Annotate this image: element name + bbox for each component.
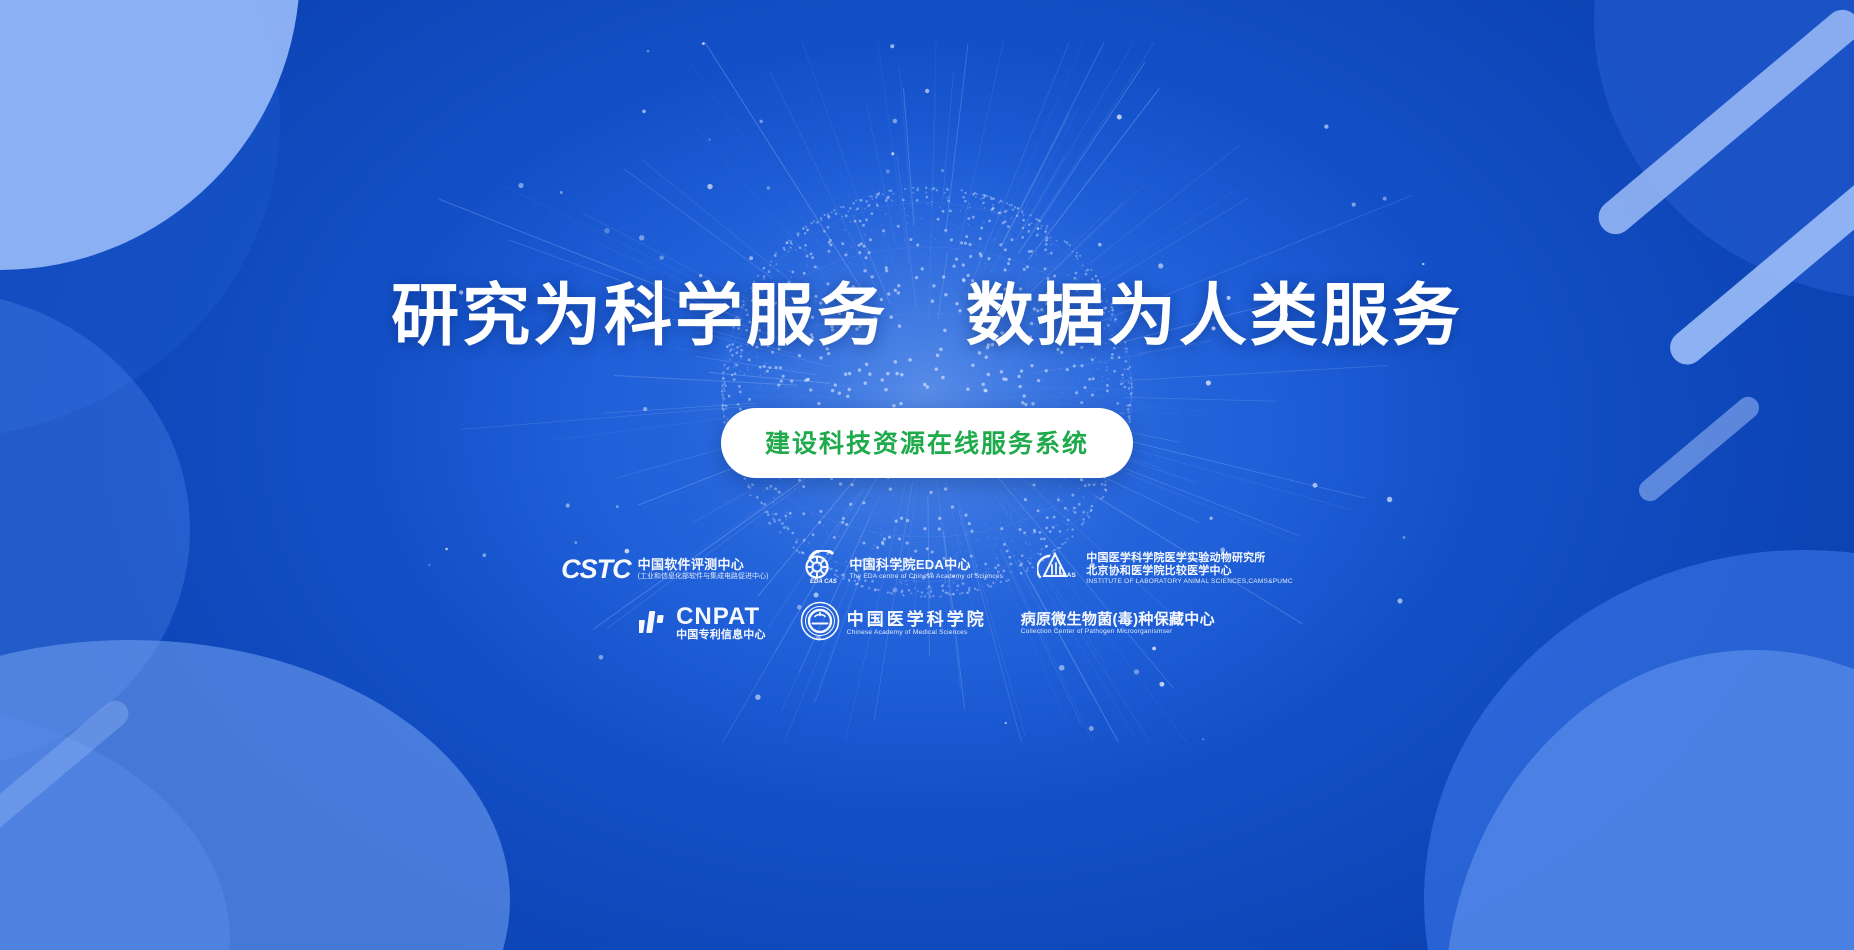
svg-text:ILAS: ILAS [1061, 572, 1076, 579]
headline-left: 研究为科学服务 [391, 278, 888, 354]
cnpat-bars-icon [639, 606, 669, 641]
banner-content: 研究为科学服务 数据为人类服务 建设科技资源在线服务系统 CSTC 中国软件评测… [0, 0, 1854, 950]
partner-logo-ilas[interactable]: ILAS 中国医学科学院医学实验动物研究所 北京协和医学院比较医学中心 INST… [1037, 550, 1293, 589]
svg-text:EDA CAS: EDA CAS [810, 579, 837, 584]
hero-banner: 研究为科学服务 数据为人类服务 建设科技资源在线服务系统 CSTC 中国软件评测… [0, 0, 1854, 950]
headline-right: 数据为人类服务 [966, 278, 1463, 354]
pathogen-center-name-cn: 病原微生物菌(毒)种保藏中心 [1021, 611, 1215, 628]
cstc-name-cn: 中国软件评测中心 [638, 558, 769, 573]
ilas-name-cn-line1: 中国医学科学院医学实验动物研究所 [1086, 552, 1293, 565]
ilas-name-en: INSTITUTE OF LABORATORY ANIMAL SCIENCES,… [1086, 578, 1293, 586]
ilas-emblem-icon: ILAS [1037, 550, 1079, 589]
cams-seal-icon [800, 601, 840, 646]
partner-logo-row-1: CSTC 中国软件评测中心 (工业和信息化部软件与集成电路促进中心) [561, 550, 1293, 589]
cams-name-en: Chinese Academy of Medical Sciences [847, 629, 987, 637]
cstc-name-sub: (工业和信息化部软件与集成电路促进中心) [638, 573, 769, 582]
partner-logo-cnpat[interactable]: CNPAT 中国专利信息中心 [639, 605, 766, 642]
partner-logo-cams[interactable]: 中国医学科学院 Chinese Academy of Medical Scien… [800, 601, 987, 646]
partner-logo-band: CSTC 中国软件评测中心 (工业和信息化部软件与集成电路促进中心) [577, 550, 1277, 646]
eda-cas-name-cn: 中国科学院EDA中心 [849, 558, 1003, 573]
cnpat-name-cn: 中国专利信息中心 [676, 629, 766, 642]
partner-logo-eda-cas[interactable]: EDA CAS 中国科学院EDA中心 The EDA centre of Chi… [802, 550, 1003, 589]
eda-cas-name-en: The EDA centre of Chinese Academy of Sci… [849, 573, 1003, 581]
eda-cas-emblem-icon: EDA CAS [802, 550, 842, 589]
partner-logo-cstc[interactable]: CSTC 中国软件评测中心 (工业和信息化部软件与集成电路促进中心) [561, 556, 768, 583]
cnpat-wordmark: CNPAT [676, 605, 766, 629]
page-title: 研究为科学服务 数据为人类服务 [391, 282, 1463, 350]
cams-name-cn: 中国医学科学院 [847, 610, 987, 630]
ilas-name-cn-line2: 北京协和医学院比较医学中心 [1086, 565, 1293, 578]
partner-logo-pathogen-center[interactable]: 病原微生物菌(毒)种保藏中心 Collection Center of Path… [1021, 611, 1215, 637]
subtitle-pill[interactable]: 建设科技资源在线服务系统 [721, 408, 1133, 478]
pathogen-center-name-en: Collection Center of Pathogen Microorgan… [1021, 628, 1215, 636]
cstc-wordmark: CSTC [561, 556, 631, 583]
partner-logo-row-2: CNPAT 中国专利信息中心 [639, 601, 1215, 646]
